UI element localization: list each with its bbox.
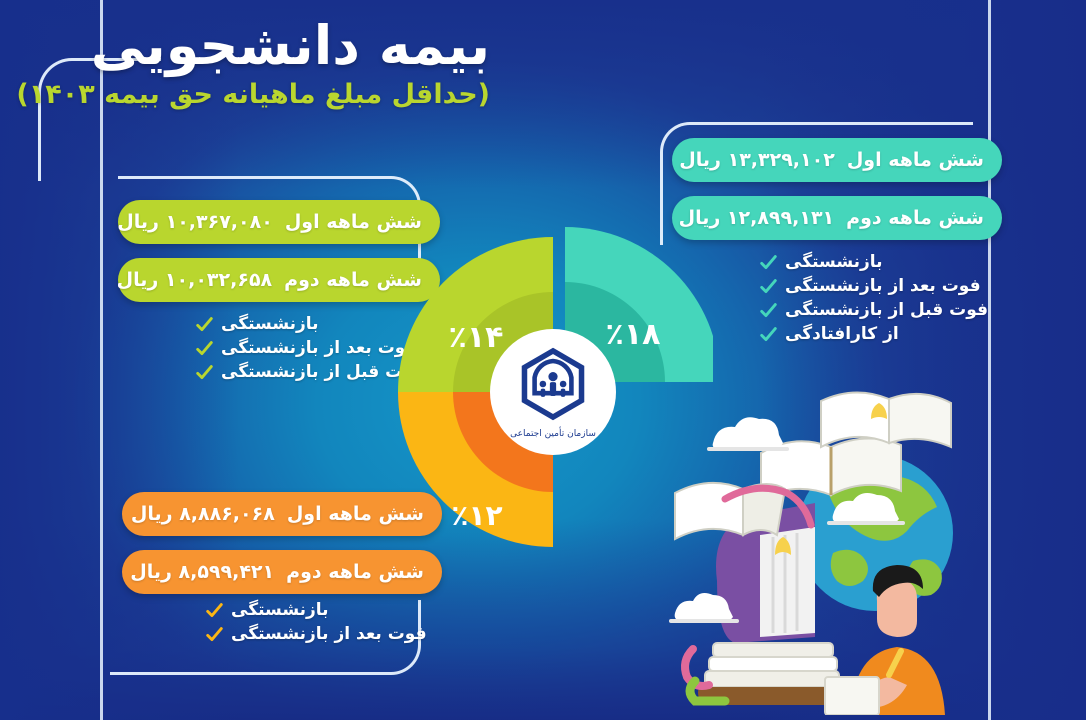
title-block: بیمه دانشجویی (حداقل مبلغ ماهیانه حق بیم… xyxy=(16,16,490,112)
pill-value: ۱۳,۳۲۹,۱۰۲ ریال xyxy=(679,149,835,171)
infographic-canvas: بیمه دانشجویی (حداقل مبلغ ماهیانه حق بیم… xyxy=(0,0,1086,720)
pill-value: ۱۰,۳۶۷,۰۸۰ ریال xyxy=(117,211,273,233)
check-icon xyxy=(760,302,777,319)
check-icon xyxy=(760,254,777,271)
list-item-label: فوت بعد از بازنشستگی xyxy=(221,338,417,358)
pill-label: شش ماهه اول xyxy=(847,149,984,171)
page-title: بیمه دانشجویی xyxy=(16,16,490,75)
book-pile xyxy=(685,643,847,705)
cloud-icon xyxy=(709,417,787,449)
list-item: فوت بعد از بازنشستگی xyxy=(196,338,402,358)
list-item-label: بازنشستگی xyxy=(785,252,883,272)
coverage-list-teal: بازنشستگی فوت بعد از بازنشستگی فوت قبل ا… xyxy=(760,252,966,348)
list-item-label: از کارافتادگی xyxy=(785,324,899,344)
check-icon xyxy=(196,364,213,381)
list-item: بازنشستگی xyxy=(206,600,402,620)
pill-value: ۸,۸۸۶,۰۶۸ ریال xyxy=(131,503,275,525)
center-logo: سازمان تأمین اجتماعی xyxy=(490,329,616,455)
slice-label-green: ٪۱۴ xyxy=(449,320,504,355)
check-icon xyxy=(206,626,223,643)
list-item: فوت قبل از بازنشستگی xyxy=(760,300,966,320)
pill-green-first-half: شش ماهه اول ۱۰,۳۶۷,۰۸۰ ریال xyxy=(118,200,440,244)
list-item-label: بازنشستگی xyxy=(221,314,319,334)
check-icon xyxy=(196,340,213,357)
pill-label: شش ماهه دوم xyxy=(286,561,424,583)
list-item: فوت بعد از بازنشستگی xyxy=(206,624,402,644)
list-item: فوت بعد از بازنشستگی xyxy=(760,276,966,296)
pill-teal-first-half: شش ماهه اول ۱۳,۳۲۹,۱۰۲ ریال xyxy=(672,138,1002,182)
check-icon xyxy=(206,602,223,619)
list-item-label: بازنشستگی xyxy=(231,600,329,620)
check-icon xyxy=(760,326,777,343)
list-item: از کارافتادگی xyxy=(760,324,966,344)
coverage-list-orange: بازنشستگی فوت بعد از بازنشستگی xyxy=(206,600,402,648)
list-item: بازنشستگی xyxy=(760,252,966,272)
list-item: فوت قبل از بازنشستگی xyxy=(196,362,402,382)
page-subtitle: (حداقل مبلغ ماهیانه حق بیمه ۱۴۰۳) xyxy=(16,79,490,111)
pill-label: شش ماهه دوم xyxy=(846,207,984,229)
slice-label-orange: ٪۱۲ xyxy=(451,499,502,532)
list-item-label: فوت بعد از بازنشستگی xyxy=(785,276,981,296)
pill-teal-second-half: شش ماهه دوم ۱۲,۸۹۹,۱۳۱ ریال xyxy=(672,196,1002,240)
list-item-label: فوت بعد از بازنشستگی xyxy=(231,624,427,644)
slice-label-teal: ٪۱۸ xyxy=(606,317,661,352)
pill-value: ۸,۵۹۹,۴۲۱ ریال xyxy=(130,561,274,583)
check-icon xyxy=(196,316,213,333)
coverage-list-green: بازنشستگی فوت بعد از بازنشستگی فوت قبل ا… xyxy=(196,314,402,386)
list-item: بازنشستگی xyxy=(196,314,402,334)
pill-value: ۱۰,۰۳۲,۶۵۸ ریال xyxy=(117,269,273,291)
list-item-label: فوت قبل از بازنشستگی xyxy=(785,300,988,320)
pill-green-second-half: شش ماهه دوم ۱۰,۰۳۲,۶۵۸ ریال xyxy=(118,258,440,302)
check-icon xyxy=(760,278,777,295)
student-reading-illustration xyxy=(665,385,995,715)
